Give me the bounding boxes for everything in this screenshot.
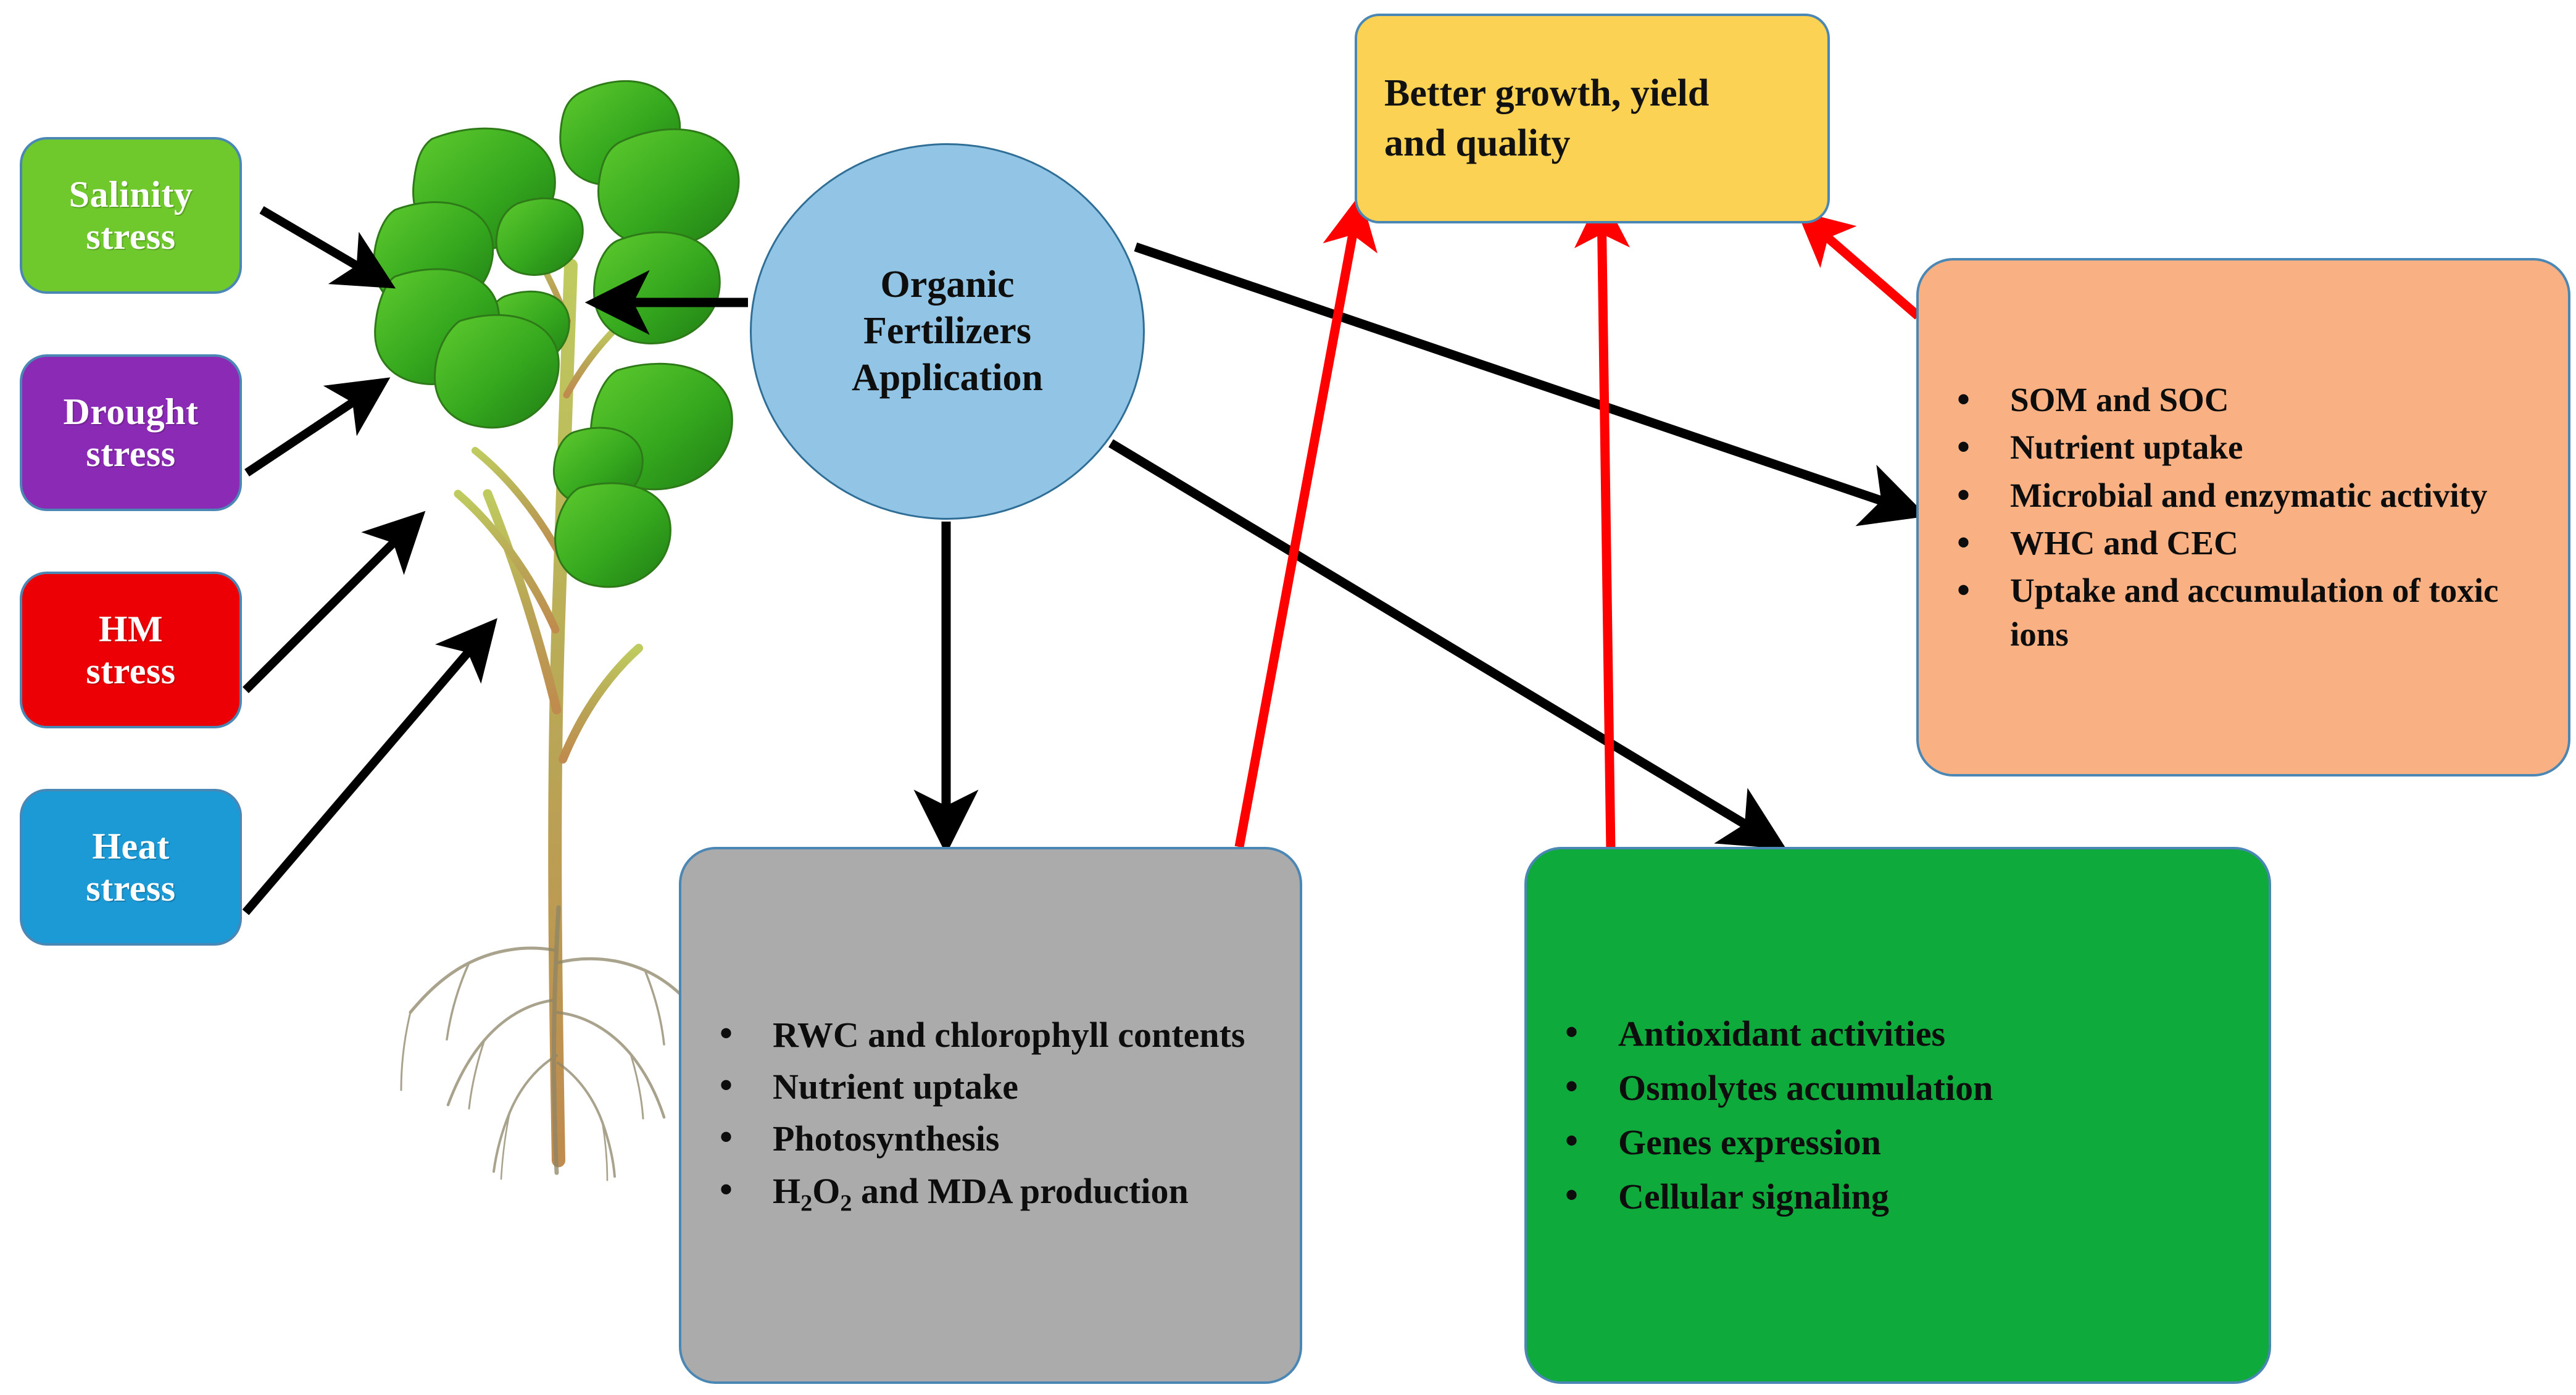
stress-label-line1: Heat [92,825,169,867]
arrow-hub-to-soil [1136,247,1912,511]
biochemistry-bullet-list: Antioxidant activities Osmolytes accumul… [1561,1002,2234,1229]
hub-label-line3: Application [852,355,1043,402]
list-item: RWC and chlorophyll contents [716,1012,1265,1058]
stress-label-line1: Salinity [69,173,193,215]
soil-bullet-list: SOM and SOC Nutrient uptake Microbial an… [1953,374,2533,660]
list-item: Osmolytes accumulation [1561,1065,2234,1111]
list-item: H2O2 and MDA production [716,1168,1265,1219]
stress-node-salinity[interactable]: Salinity stress [20,137,242,294]
stress-label-line2: stress [86,433,175,475]
list-item: Photosynthesis [716,1116,1265,1162]
stress-label-line1: HM [99,608,163,650]
outcome-node-better-growth[interactable]: Better growth, yield and quality [1355,14,1830,223]
hub-node-organic-fertilizers[interactable]: Organic Fertilizers Application [750,143,1145,520]
physiology-bullet-list: RWC and chlorophyll contents Nutrient up… [716,1006,1265,1225]
stress-node-heavy-metal[interactable]: HM stress [20,572,242,728]
arrow-biochemistry-to-outcome [1602,206,1611,851]
soil-effects-node[interactable]: SOM and SOC Nutrient uptake Microbial an… [1916,258,2570,777]
list-item: Cellular signaling [1561,1174,2234,1220]
arrow-drought-to-plant [247,386,378,473]
arrow-heat-to-plant [246,630,488,912]
list-item: Antioxidant activities [1561,1011,2234,1057]
stress-node-heat[interactable]: Heat stress [20,789,242,946]
stress-label-line2: stress [86,867,175,909]
arrow-hm-to-plant [246,522,415,690]
arrow-salinity-to-plant [262,210,383,281]
list-item: Nutrient uptake [716,1064,1265,1110]
arrow-soil-to-outcome [1807,220,1918,316]
list-item: Microbial and enzymatic activity [1953,474,2533,517]
list-item: Nutrient uptake [1953,426,2533,469]
biochemistry-effects-node[interactable]: Antioxidant activities Osmolytes accumul… [1524,847,2271,1384]
arrow-hub-to-biochemistry [1111,443,1772,841]
stress-label-line1: Drought [63,391,198,433]
stress-node-drought[interactable]: Drought stress [20,354,242,511]
list-item: WHC and CEC [1953,522,2533,565]
diagram-canvas: Salinity stress Drought stress HM stress… [0,0,2576,1395]
physiology-effects-node[interactable]: RWC and chlorophyll contents Nutrient up… [679,847,1302,1384]
list-item: Genes expression [1561,1120,2234,1165]
stress-label-line2: stress [86,650,175,692]
list-item: Uptake and accumulation of toxic ions [1953,569,2533,656]
stress-label-line2: stress [86,215,175,257]
list-item: SOM and SOC [1953,378,2533,422]
outcome-label-line2: and quality [1384,119,1800,169]
outcome-label-line1: Better growth, yield [1384,69,1800,119]
hub-label-line2: Fertilizers [863,308,1031,355]
hub-label-line1: Organic [881,262,1015,309]
arrow-physiology-to-outcome [1239,207,1358,847]
